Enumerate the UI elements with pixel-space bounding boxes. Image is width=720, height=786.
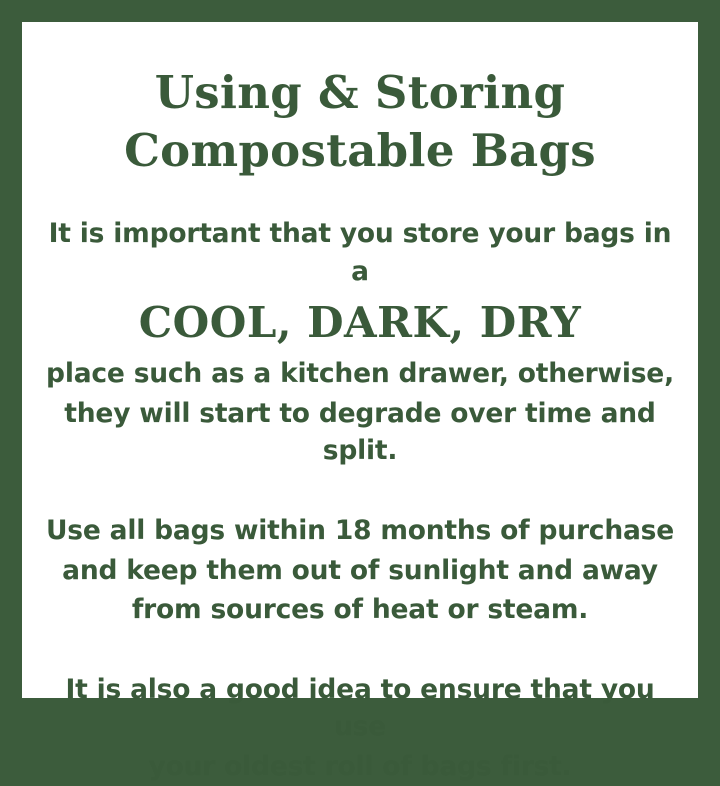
after-emphasis-line-1: place such as a kitchen drawer, otherwis…	[40, 355, 680, 393]
paragraph2-line-3: from sources of heat or steam.	[40, 591, 680, 629]
after-emphasis-line-2: they will start to degrade over time and…	[40, 395, 680, 470]
info-card: Using & Storing Compostable Bags It is i…	[22, 22, 698, 698]
title-line-2: Compostable Bags	[124, 122, 596, 180]
paragraph2-line-2: and keep them out of sunlight and away	[40, 552, 680, 590]
paragraph3-line-1: It is also a good idea to ensure that yo…	[40, 671, 680, 746]
paragraph3-line-2: your oldest roll of bags first.	[40, 748, 680, 786]
card-title: Using & Storing Compostable Bags	[124, 64, 596, 179]
intro-line: It is important that you store your bags…	[40, 215, 680, 290]
title-line-1: Using & Storing	[124, 64, 596, 122]
paragraph2-line-1: Use all bags within 18 months of purchas…	[40, 512, 680, 550]
emphasis-text: COOL, DARK, DRY	[40, 296, 680, 351]
